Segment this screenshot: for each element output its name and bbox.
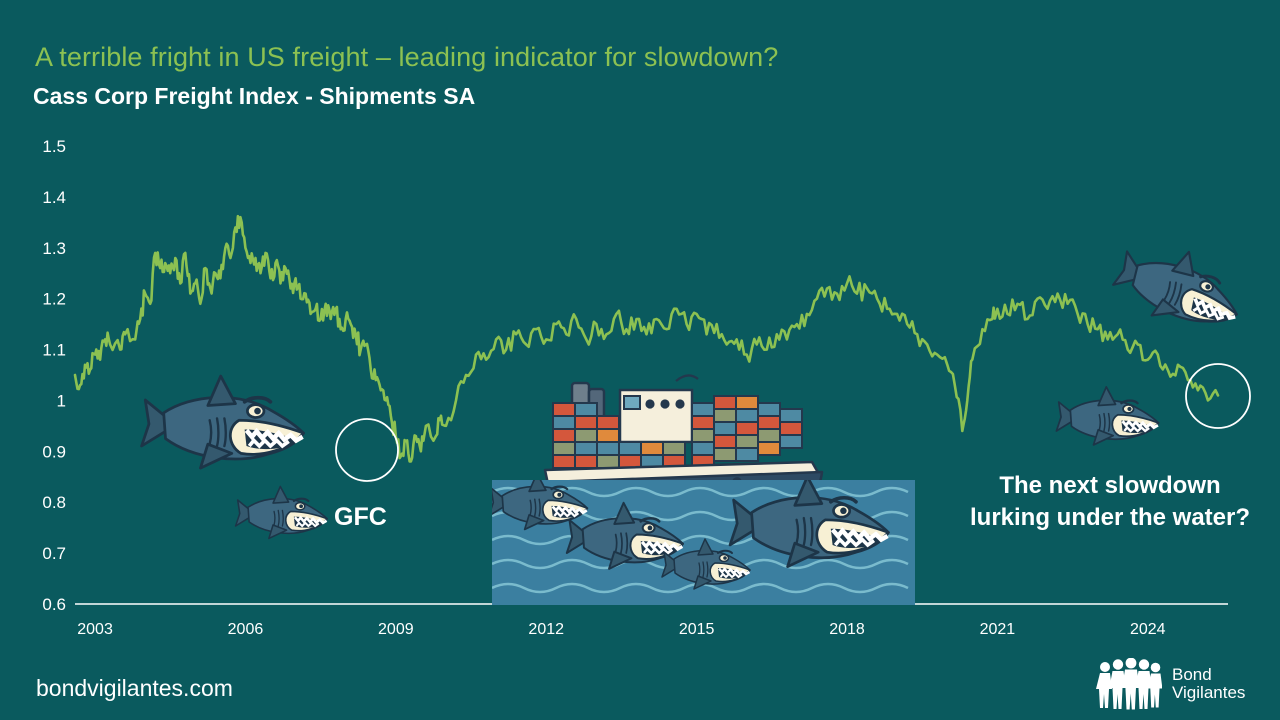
y-tick-label: 1.2	[42, 290, 66, 309]
shark-illustration	[142, 376, 304, 468]
y-tick-label: 0.6	[42, 595, 66, 614]
people-group-icon	[1096, 658, 1162, 710]
y-tick-label: 0.7	[42, 544, 66, 563]
y-tick-label: 0.9	[42, 442, 66, 461]
gfc-circle-annotation	[336, 419, 398, 481]
x-tick-label: 2006	[228, 621, 264, 638]
water-with-sharks-illustration	[489, 473, 915, 605]
bond-vigilantes-logo: Bond Vigilantes	[1096, 658, 1245, 710]
y-tick-label: 1.4	[42, 188, 66, 207]
shark-illustration	[1056, 387, 1158, 445]
next-slowdown-label: The next slowdown lurking under the wate…	[960, 470, 1260, 533]
shark-illustration	[236, 486, 328, 538]
logo-line-1: Bond	[1172, 666, 1245, 684]
x-tick-label: 2021	[980, 621, 1016, 638]
website-url[interactable]: bondvigilantes.com	[36, 675, 233, 702]
freight-index-chart: 1.51.41.31.21.110.90.80.70.6 20032006200…	[0, 0, 1280, 720]
gfc-label: GFC	[334, 503, 387, 532]
ship-and-water-illustration	[489, 375, 915, 605]
x-tick-label: 2015	[679, 621, 715, 638]
logo-line-2: Vigilantes	[1172, 684, 1245, 702]
y-tick-label: 1	[57, 391, 66, 410]
x-tick-label: 2024	[1130, 621, 1166, 638]
x-axis-tick-labels: 20032006200920122015201820212024	[77, 621, 1165, 638]
x-tick-label: 2012	[528, 621, 564, 638]
x-tick-label: 2003	[77, 621, 113, 638]
y-axis-tick-labels: 1.51.41.31.21.110.90.80.70.6	[42, 137, 66, 614]
x-tick-label: 2009	[378, 621, 414, 638]
logo-wordmark: Bond Vigilantes	[1172, 666, 1245, 703]
y-tick-label: 0.8	[42, 493, 66, 512]
slide-root: A terrible fright in US freight – leadin…	[0, 0, 1280, 720]
y-tick-label: 1.3	[42, 239, 66, 258]
y-tick-label: 1.5	[42, 137, 66, 156]
y-tick-label: 1.1	[42, 341, 66, 360]
x-tick-label: 2018	[829, 621, 865, 638]
shark-illustration	[1108, 233, 1251, 341]
